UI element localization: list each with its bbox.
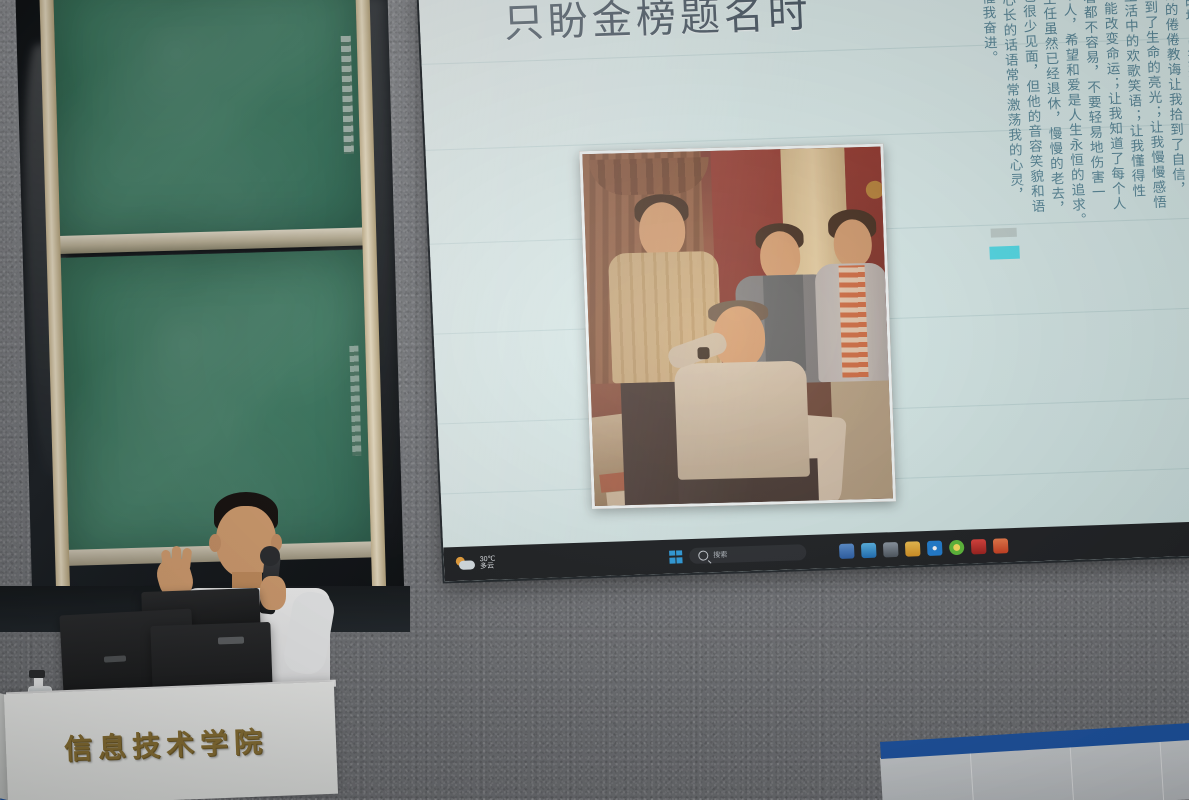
pdf-app-icon[interactable] (993, 538, 1009, 553)
browser-360-app-icon[interactable] (949, 539, 965, 554)
taskbar-weather-widget[interactable]: 30℃ 多云 (456, 555, 496, 571)
edge-app-icon[interactable] (861, 542, 877, 557)
partly-cloudy-icon (456, 556, 477, 571)
start-icon[interactable] (669, 550, 683, 563)
presenter-finger (172, 546, 181, 570)
presenter-finger (181, 548, 192, 572)
microphone-head (260, 546, 280, 566)
gray-highlight-mark (991, 228, 1017, 238)
slide-title: 只盼金榜题名时 (502, 0, 812, 49)
store-app-icon[interactable] (883, 541, 899, 556)
wps-app-icon[interactable] (927, 540, 943, 555)
presenter-hand-right (260, 576, 286, 610)
monitor-brand-logo-secondary (104, 655, 126, 662)
file-folder-app-icon[interactable] (905, 541, 921, 556)
weather-condition: 多云 (480, 563, 496, 571)
slide-photo (579, 144, 896, 509)
explorer-app-icon[interactable] (839, 543, 855, 558)
search-icon (698, 550, 708, 560)
taskbar-app-icons[interactable] (839, 538, 1009, 559)
cyan-highlight-mark (990, 246, 1021, 260)
podium-sign-text: 信息技术学院 (63, 720, 268, 768)
lecture-hall-screenshot: 只盼金榜题名时 (0, 0, 1189, 800)
vertical-text-last: 催我奋进。 (978, 0, 997, 66)
search-placeholder: 搜索 (713, 550, 727, 560)
monitor-brand-logo (218, 637, 244, 645)
search-input[interactable]: 搜索 (689, 544, 807, 564)
slide-vertical-text: 的坎，只要有改变自己坚强的信念，一切都 好起来的！」 老师的倦倦教诲让我拾到了自… (948, 0, 1189, 306)
chalkboard-panel-upper (53, 0, 362, 240)
warning-app-icon[interactable] (971, 538, 987, 553)
presenter-ear-left (209, 534, 221, 552)
projection-screen[interactable]: 只盼金榜题名时 (418, 0, 1189, 581)
